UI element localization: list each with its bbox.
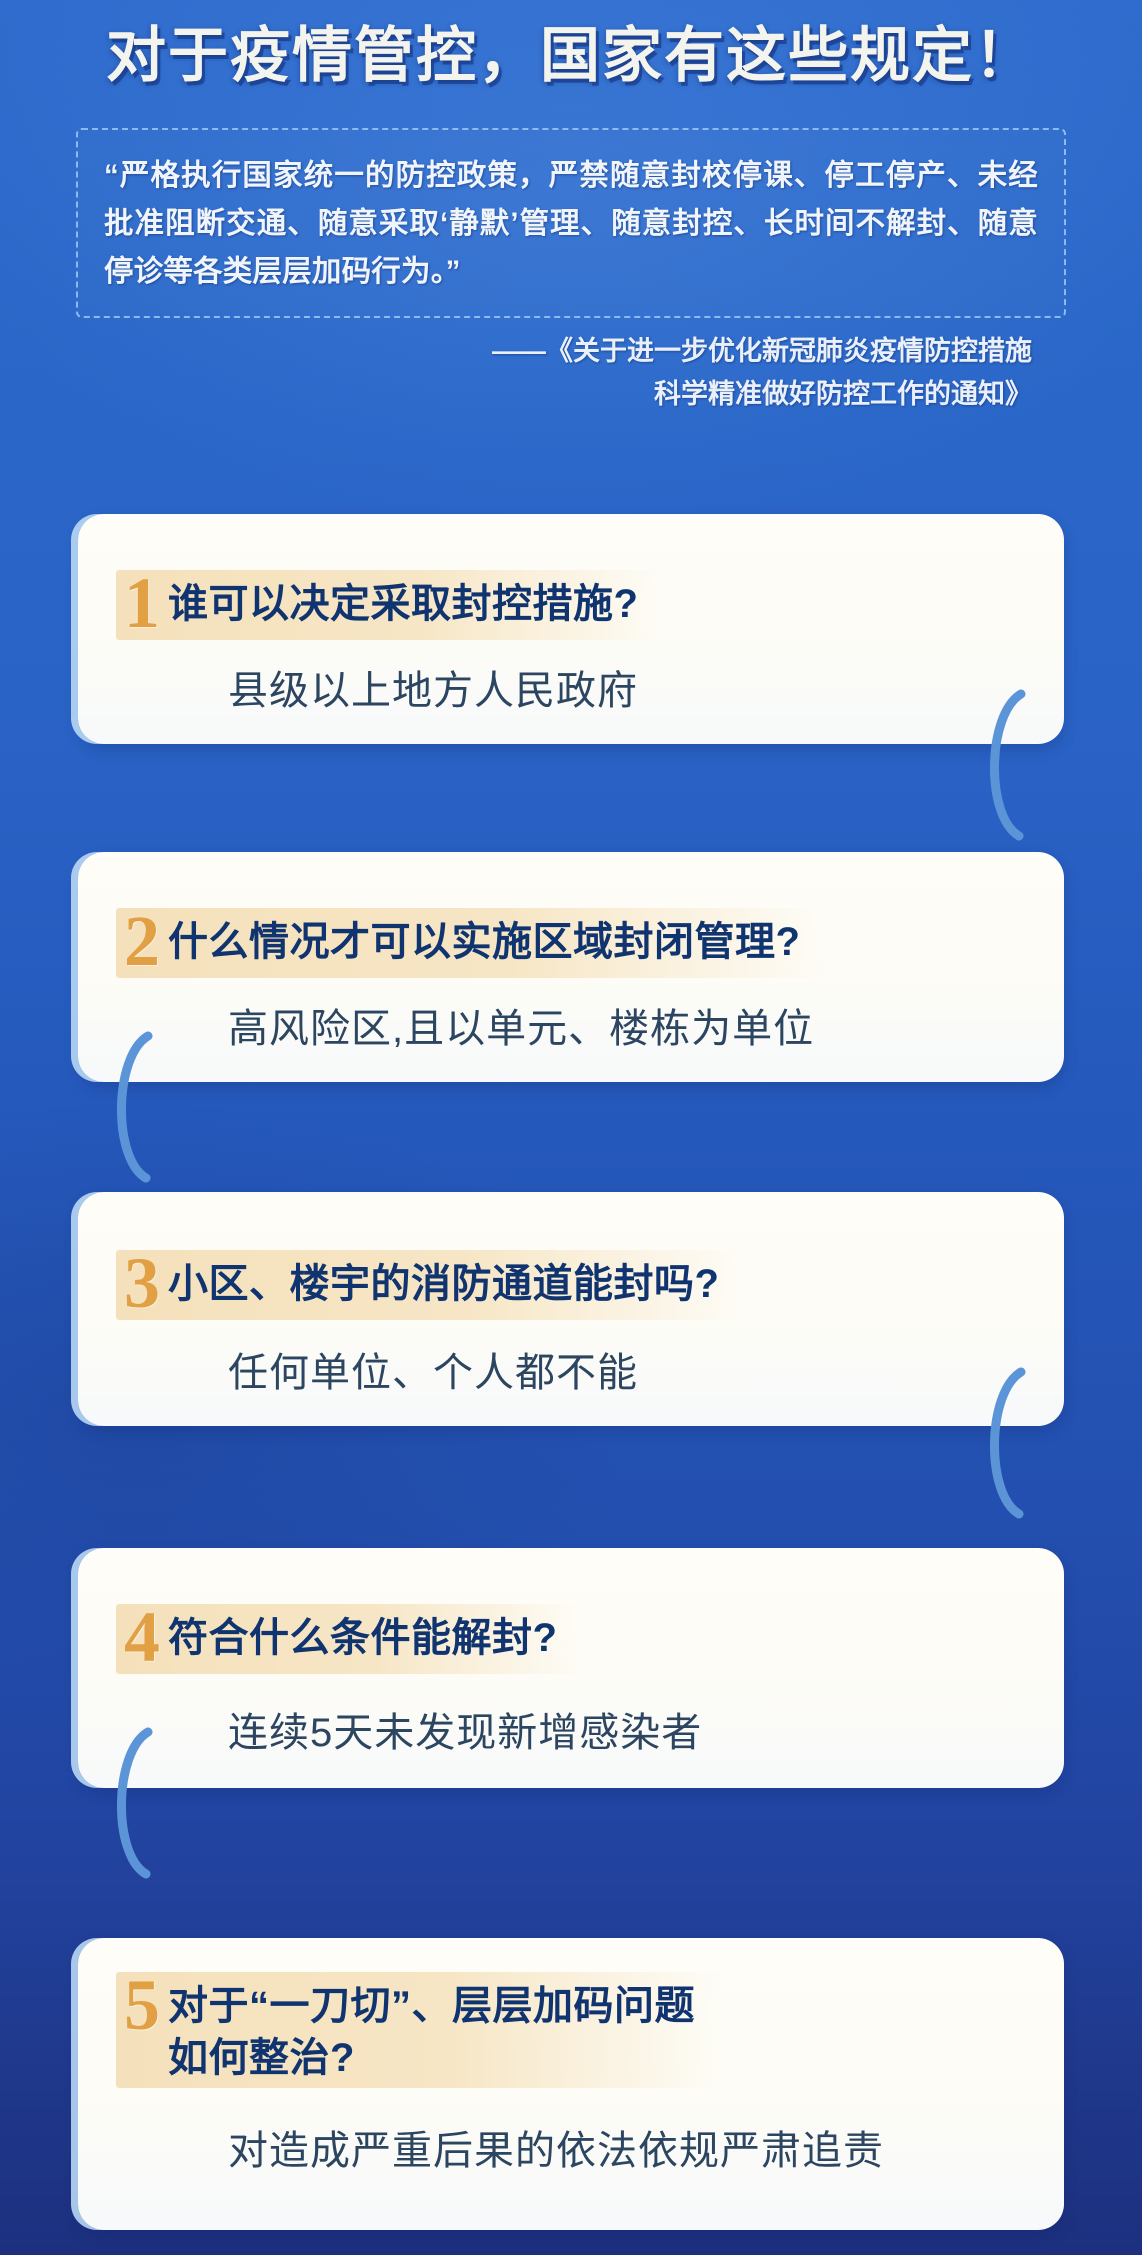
question-number: 5 [124,1972,160,2038]
question-row: 5 对于“一刀切”、层层加码问题 如何整治? [116,1972,721,2088]
faq-card: 4 符合什么条件能解封? 连续5天未发现新增感染者 [78,1548,1064,1788]
question-number: 2 [124,908,160,974]
faq-card: 3 小区、楼宇的消防通道能封吗? 任何单位、个人都不能 [78,1192,1064,1426]
question-row: 3 小区、楼宇的消防通道能封吗? [116,1250,745,1320]
poster-canvas: 对于疫情管控，国家有这些规定！ “严格执行国家统一的防控政策，严禁随意封校停课、… [0,0,1142,2255]
question-row: 2 什么情况才可以实施区域封闭管理? [116,908,826,978]
answer-text: 高风险区,且以单元、楼栋为单位 [228,1004,814,1054]
faq-card: 5 对于“一刀切”、层层加码问题 如何整治? 对造成严重后果的依法依规严肃追责 [78,1938,1064,2230]
answer-text: 任何单位、个人都不能 [228,1348,638,1398]
question-number: 1 [124,570,160,636]
answer-text: 对造成严重后果的依法依规严肃追责 [228,2126,884,2176]
question-text: 谁可以决定采取封控措施? [168,572,638,630]
question-text: 小区、楼宇的消防通道能封吗? [168,1252,719,1310]
answer-text: 连续5天未发现新增感染者 [228,1708,702,1758]
faq-card: 2 什么情况才可以实施区域封闭管理? 高风险区,且以单元、楼栋为单位 [78,852,1064,1082]
question-number: 4 [124,1604,160,1670]
question-number: 3 [124,1250,160,1316]
faq-card: 1 谁可以决定采取封控措施? 县级以上地方人民政府 [78,514,1064,744]
question-row: 4 符合什么条件能解封? [116,1604,583,1674]
question-text: 符合什么条件能解封? [168,1606,557,1664]
faq-card-list: 1 谁可以决定采取封控措施? 县级以上地方人民政府 2 什么情况才可以实施区域封… [0,0,1142,2255]
answer-text: 县级以上地方人民政府 [228,666,638,716]
question-text: 对于“一刀切”、层层加码问题 如何整治? [168,1974,695,2084]
question-text: 什么情况才可以实施区域封闭管理? [168,910,800,968]
question-row: 1 谁可以决定采取封控措施? [116,570,664,640]
